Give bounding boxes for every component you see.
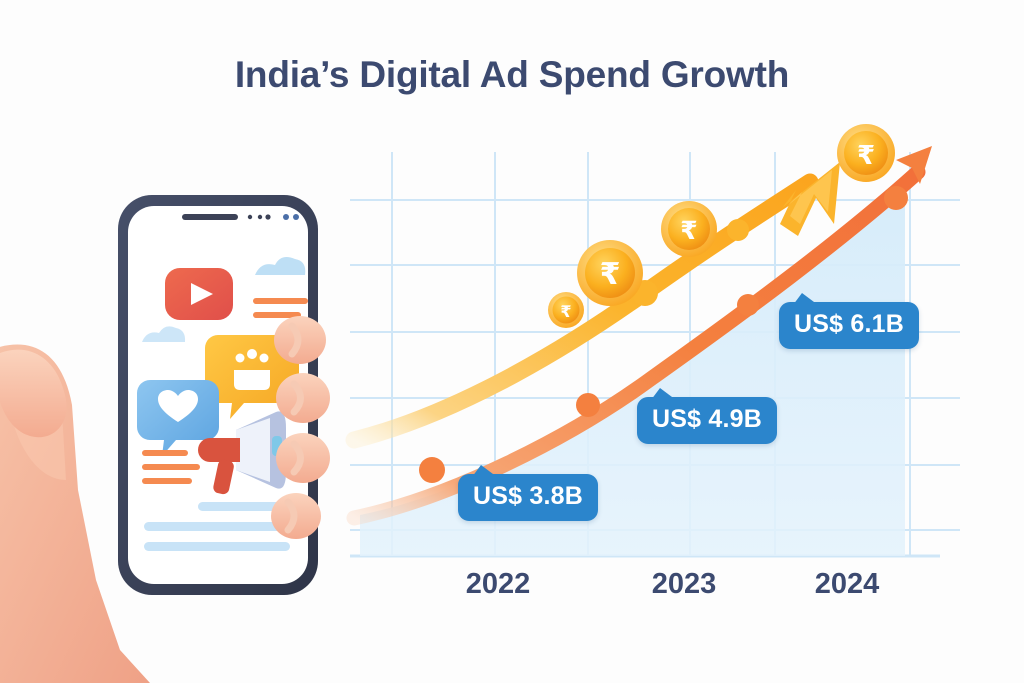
data-point-marker <box>884 186 908 210</box>
data-point-marker <box>737 294 759 316</box>
value-badge-2023: US$ 4.9B <box>637 397 777 444</box>
rupee-coin-medium: ₹ <box>661 201 717 257</box>
x-axis-tick-2024: 2024 <box>815 568 880 601</box>
rupee-coin-large: ₹ <box>577 240 643 306</box>
rupee-coin-small: ₹ <box>548 292 584 328</box>
value-badge-2022: US$ 3.8B <box>458 474 598 521</box>
page-title: India’s Digital Ad Spend Growth <box>0 54 1024 96</box>
x-axis-tick-2022: 2022 <box>466 568 531 601</box>
chart-area-fill <box>360 182 905 556</box>
x-axis-tick-2023: 2023 <box>652 568 717 601</box>
value-badge-2024: US$ 6.1B <box>779 302 919 349</box>
data-point-marker <box>419 457 445 483</box>
svg-text:₹: ₹ <box>560 302 571 321</box>
phone-speaker <box>182 214 238 220</box>
data-point-marker <box>727 219 749 241</box>
svg-text:₹: ₹ <box>680 216 697 245</box>
data-point-marker <box>576 393 600 417</box>
chart-svg: ₹ ₹ ₹ ₹ <box>340 120 960 600</box>
svg-text:₹: ₹ <box>857 141 875 171</box>
video-play-card <box>165 268 233 320</box>
phone-in-hand-illustration <box>0 150 360 683</box>
infographic-canvas: India’s Digital Ad Spend Growth <box>0 0 1024 683</box>
up-arrow-head <box>780 162 840 236</box>
svg-text:₹: ₹ <box>600 257 621 292</box>
phone-illustration-svg <box>0 150 360 683</box>
rupee-coin-top: ₹ <box>837 124 895 182</box>
growth-chart: ₹ ₹ ₹ ₹ <box>340 120 960 600</box>
